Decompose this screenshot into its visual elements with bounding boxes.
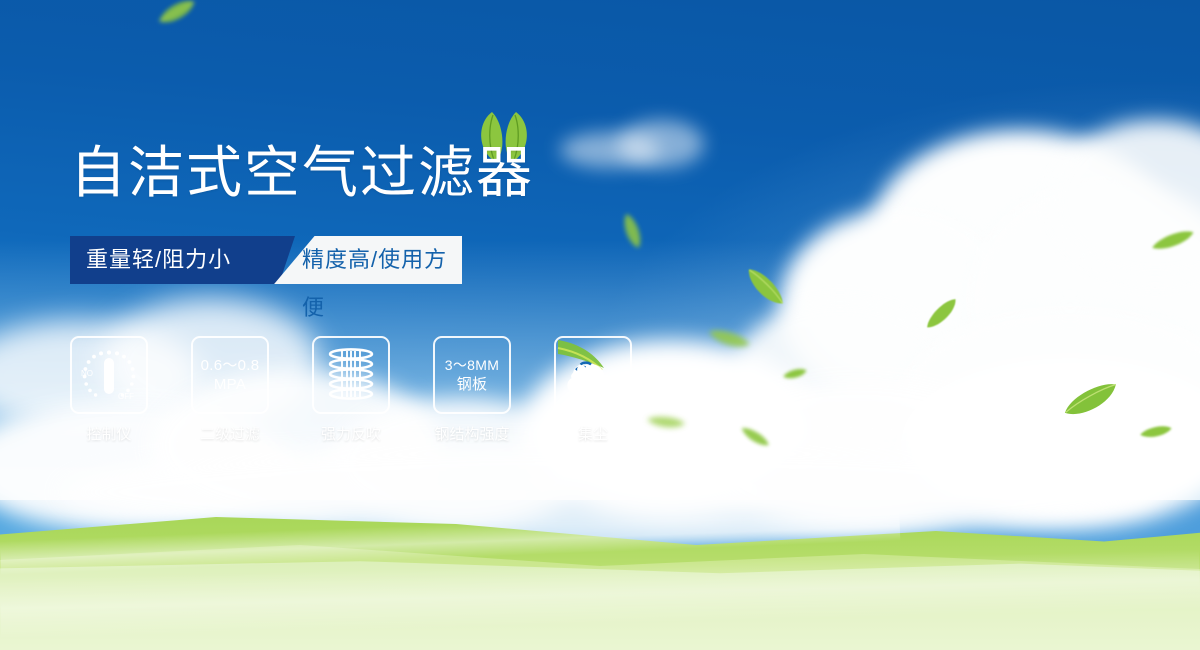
feature-icon-box	[312, 336, 390, 414]
feature-item-two-stage-filter[interactable]: 0.6～0.8 MPA 二级过滤	[191, 336, 269, 444]
air-label: Air	[556, 384, 630, 403]
subtitle-right-text: 精度高/使用方便	[302, 236, 462, 284]
feature-icon-box: NO OFF	[70, 336, 148, 414]
page-title: 自洁式空气过滤器	[70, 145, 534, 201]
feature-text-line2: MPA	[214, 375, 246, 394]
feature-item-steel-strength[interactable]: 3～8MM 钢板 钢结构强度	[433, 336, 511, 444]
filter-stack-icon	[322, 346, 380, 404]
feature-caption: 二级过滤	[200, 423, 260, 444]
feature-text-line1: 3～8MM	[445, 356, 499, 375]
subtitle-left-text: 重量轻/阻力小	[86, 236, 231, 284]
feature-item-control-gauge[interactable]: NO OFF 控制仪	[70, 336, 148, 444]
feature-caption: 钢结构强度	[434, 423, 509, 444]
feature-list: NO OFF 控制仪 0.6～0.8 MPA 二级过滤	[70, 336, 632, 444]
gauge-label-no: NO	[81, 369, 93, 378]
product-banner: 自洁式空气过滤器 重量轻/阻力小 精度高/使用方便	[0, 0, 1200, 650]
feature-item-strong-blowback[interactable]: 强力反吹	[312, 336, 390, 444]
small-cloud	[560, 120, 710, 180]
subtitle-bar: 重量轻/阻力小 精度高/使用方便	[70, 236, 462, 284]
feature-caption: 集尘	[578, 423, 608, 444]
gauge-icon: NO OFF	[78, 346, 140, 404]
feature-icon-box: Air	[554, 336, 632, 414]
feature-icon-box: 0.6～0.8 MPA	[191, 336, 269, 414]
feature-icon-box: 3～8MM 钢板	[433, 336, 511, 414]
feature-item-dust-collection[interactable]: Air 集尘	[554, 336, 632, 444]
feature-text-line1: 0.6～0.8	[201, 356, 260, 375]
feature-caption: 强力反吹	[321, 423, 381, 444]
feature-caption: 控制仪	[86, 423, 131, 444]
gauge-label-off: OFF	[118, 392, 134, 401]
feature-text-line2: 钢板	[457, 375, 488, 394]
